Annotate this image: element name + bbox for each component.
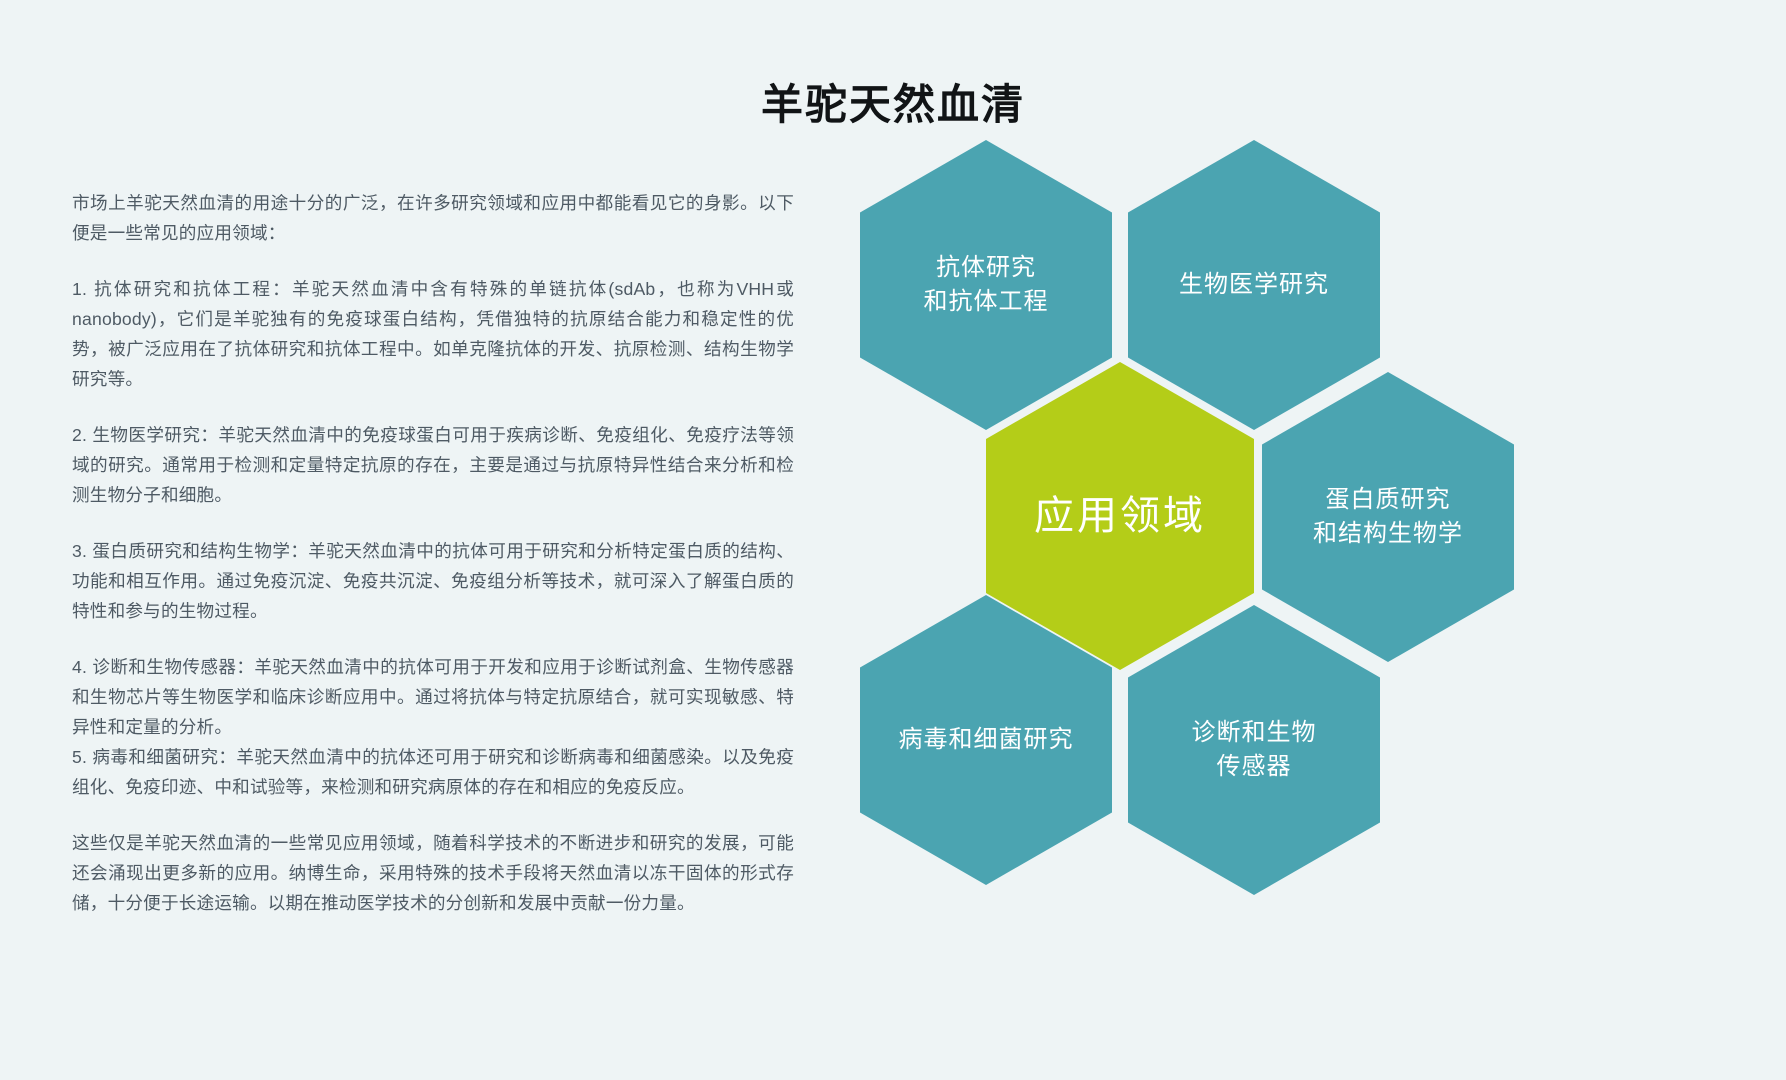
hexagon-label-antibody-research: 抗体研究 和抗体工程 [910, 251, 1063, 319]
paragraph-item-4: 4. 诊断和生物传感器：羊驼天然血清中的抗体可用于开发和应用于诊断试剂盒、生物传… [72, 652, 794, 742]
hexagon-protein-research[interactable]: 蛋白质研究 和结构生物学 [1262, 372, 1514, 662]
paragraph-outro: 这些仅是羊驼天然血清的一些常见应用领域，随着科学技术的不断进步和研究的发展，可能… [72, 828, 794, 918]
paragraph-item-5: 5. 病毒和细菌研究：羊驼天然血清中的抗体还可用于研究和诊断病毒和细菌感染。以及… [72, 742, 794, 802]
hexagon-label-biomedical-research: 生物医学研究 [1165, 268, 1343, 302]
hexagon-label-protein-research: 蛋白质研究 和结构生物学 [1299, 483, 1477, 551]
paragraph-item-1: 1. 抗体研究和抗体工程：羊驼天然血清中含有特殊的单链抗体(sdAb，也称为VH… [72, 274, 794, 394]
hexagon-label-virus-bacteria-research: 病毒和细菌研究 [885, 723, 1088, 757]
paragraph-intro: 市场上羊驼天然血清的用途十分的广泛，在许多研究领域和应用中都能看见它的身影。以下… [72, 188, 794, 248]
hexagon-label-application-fields: 应用领域 [1020, 492, 1220, 540]
hexagon-biomedical-research[interactable]: 生物医学研究 [1128, 140, 1380, 430]
article-body: 市场上羊驼天然血清的用途十分的广泛，在许多研究领域和应用中都能看见它的身影。以下… [72, 188, 794, 944]
application-fields-honeycomb-diagram: 抗体研究 和抗体工程 生物医学研究 应用领域 蛋白质研究 和结构生物学 病毒和细… [838, 130, 1598, 920]
paragraph-item-2: 2. 生物医学研究：羊驼天然血清中的免疫球蛋白可用于疾病诊断、免疫组化、免疫疗法… [72, 420, 794, 510]
hexagon-label-diagnostics-biosensors: 诊断和生物 传感器 [1178, 716, 1331, 784]
page-title: 羊驼天然血清 [0, 80, 1786, 130]
paragraph-item-3: 3. 蛋白质研究和结构生物学：羊驼天然血清中的抗体可用于研究和分析特定蛋白质的结… [72, 536, 794, 626]
hexagon-antibody-research[interactable]: 抗体研究 和抗体工程 [860, 140, 1112, 430]
hexagon-diagnostics-biosensors[interactable]: 诊断和生物 传感器 [1128, 605, 1380, 895]
